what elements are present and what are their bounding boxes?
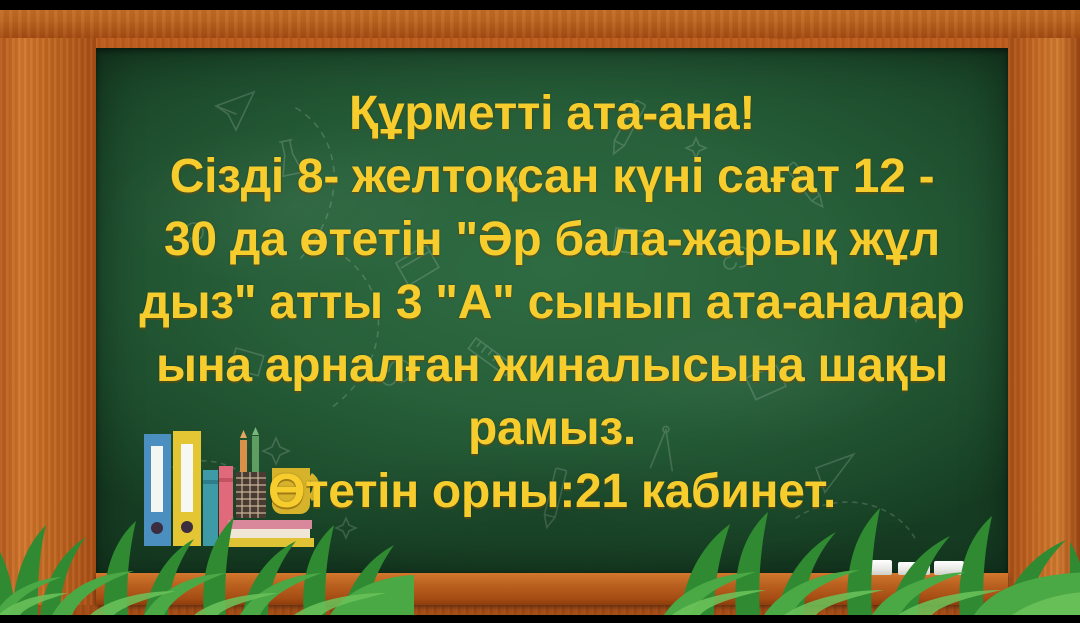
letterbox-top xyxy=(0,0,1080,10)
chalkboard-announcement-image: Құрметті ата-ана! Сізді 8- желтоқсан күн… xyxy=(0,0,1080,623)
grass-decoration-left xyxy=(0,495,414,615)
letterbox-bottom xyxy=(0,615,1080,623)
grass-decoration-right xyxy=(660,490,1080,615)
